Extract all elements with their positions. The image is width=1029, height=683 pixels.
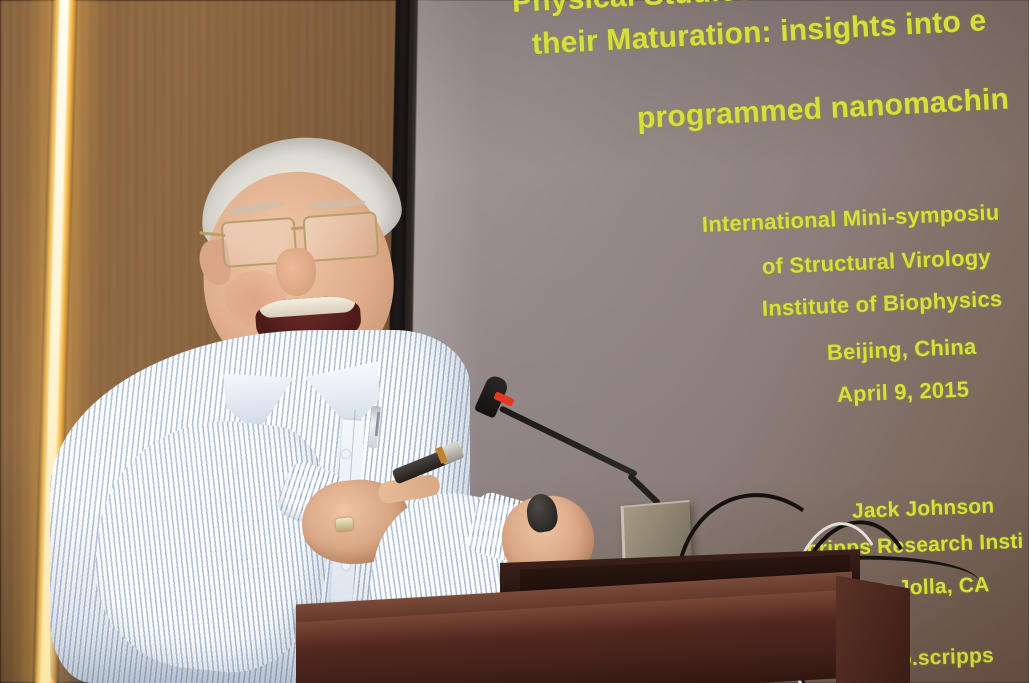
conference-photo: Physical Studies of Virus Parti their Ma… (0, 0, 1029, 683)
slide-title-line-3: programmed nanomachin (636, 83, 1010, 136)
slide-event-line-2: of Structural Virology (761, 244, 991, 280)
slide-event-line-3: Institute of Biophysics (761, 286, 1002, 322)
lectern-side-panel (836, 575, 910, 683)
slide-speaker-name: Jack Johnson (852, 495, 995, 524)
shirt-button (342, 450, 350, 458)
glasses-lens-right (302, 211, 379, 262)
slide-event-line-4: Beijing, China (826, 334, 976, 366)
slide-event-date: April 9, 2015 (836, 376, 969, 408)
gold-ring (335, 517, 353, 532)
slide-event-line-1: International Mini-symposiu (701, 200, 999, 238)
